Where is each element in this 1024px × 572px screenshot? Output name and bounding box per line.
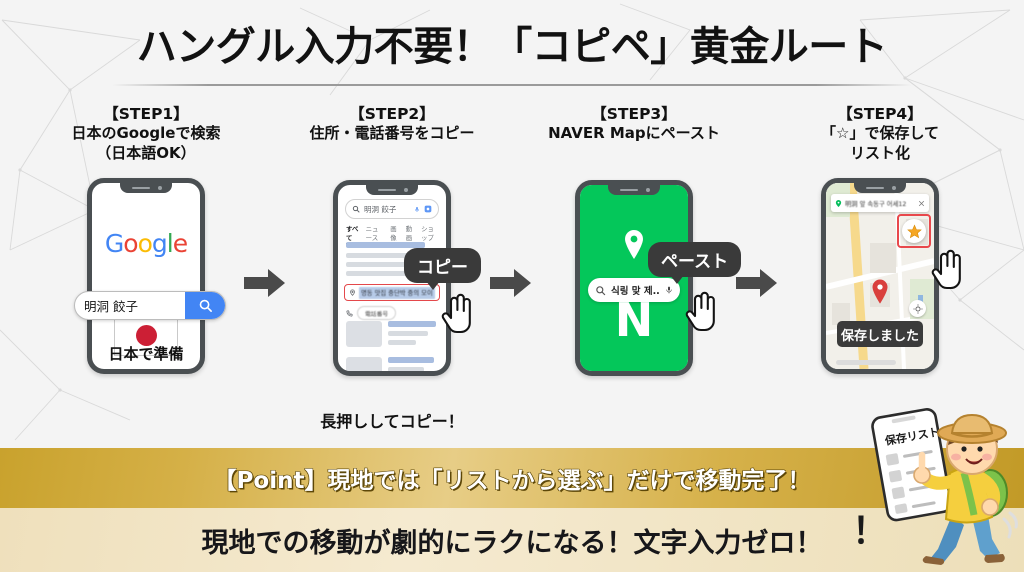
phone-1-screen: Google 日本で準備 [92, 183, 200, 369]
steps-row: 【STEP1】 日本のGoogleで検索 （日本語OK） Google 日本で準… [0, 104, 1024, 424]
mascot-illustration: 保存リスト [868, 407, 1018, 572]
phone-notch [608, 185, 660, 195]
step-3-tag: 【STEP3】 [516, 104, 752, 124]
compass-icon[interactable] [909, 300, 926, 317]
location-pin-icon [622, 230, 646, 265]
title-divider [112, 84, 912, 86]
result-card-2 [346, 357, 438, 371]
phone-mockup-1: Google 日本で準備 [87, 178, 205, 374]
step-card-4: 【STEP4】 「☆」で保存して リスト化 [762, 104, 998, 374]
phone-4-screen: 明洞 앞 속동구 어세12 [826, 183, 934, 369]
hand-pointer-icon-step3 [684, 290, 720, 337]
hand-pointer-icon-step2 [440, 292, 476, 339]
mic-icon[interactable] [665, 284, 673, 296]
step-4-heading: 【STEP4】 「☆」で保存して リスト化 [762, 104, 998, 164]
star-highlight-box [897, 214, 931, 248]
lens-icon[interactable] [424, 205, 432, 213]
map-address-bar[interactable]: 明洞 앞 속동구 어세12 [831, 194, 929, 212]
banner-summary-text: 現地での移動が劇的にラクになる！文字入力ゼロ！ [202, 521, 823, 560]
paste-callout-bubble: ペースト [648, 242, 741, 277]
step-card-1: 【STEP1】 日本のGoogleで検索 （日本語OK） Google 日本で準… [28, 104, 264, 374]
arrow-step3-to-step4 [736, 268, 778, 303]
step-3-line1: NAVER Mapにペースト [516, 124, 752, 144]
tab-news[interactable]: ニュース [366, 224, 385, 244]
step-1-heading: 【STEP1】 日本のGoogleで検索 （日本語OK） [28, 104, 264, 164]
step-1-line1: 日本のGoogleで検索 [28, 124, 264, 144]
search-icon[interactable] [185, 292, 225, 319]
step-3-heading: 【STEP3】 NAVER Mapにペースト [516, 104, 752, 144]
phone-mockup-4: 明洞 앞 속동구 어세12 [821, 178, 939, 374]
phone-result-row[interactable]: 電話番号 [346, 306, 396, 320]
tab-videos[interactable]: 動画 [406, 224, 415, 244]
step-1-tag: 【STEP1】 [28, 104, 264, 124]
phone-icon [346, 310, 353, 317]
infographic-root: ハングル入力不要！「コピペ」黄金ルート 【STEP1】 日本のGoogleで検索… [0, 0, 1024, 572]
results-search-input[interactable]: 明洞 餃子 [345, 199, 439, 219]
phone-notch [854, 183, 906, 193]
map-address-value: 明洞 앞 속동구 어세12 [845, 199, 915, 208]
results-tabs: すべて ニュース 画像 動画 ショップ [346, 224, 440, 244]
step-2-tag: 【STEP2】 [274, 104, 510, 124]
step-4-line1: 「☆」で保存して [762, 124, 998, 144]
search-icon [595, 285, 606, 296]
mic-icon[interactable] [414, 205, 420, 214]
map-pin-icon [349, 288, 356, 297]
hand-pointer-icon-step4 [930, 248, 966, 295]
step-2-heading: 【STEP2】 住所・電話番号をコピー [274, 104, 510, 144]
google-search-value: 明洞 餃子 [75, 296, 185, 315]
map-pin-icon [835, 199, 842, 208]
step-2-line1: 住所・電話番号をコピー [274, 124, 510, 144]
step-4-line2: リスト化 [762, 144, 998, 164]
title-block: ハングル入力不要！「コピペ」黄金ルート [0, 14, 1024, 86]
save-toast: 保存しました [837, 321, 923, 347]
tab-shopping[interactable]: ショップ [421, 224, 440, 244]
naver-logo: N [580, 297, 688, 343]
result-card-1 [346, 321, 438, 347]
phone-notch [120, 183, 172, 193]
google-logo: Google [92, 229, 200, 258]
tab-all[interactable]: すべて [346, 224, 360, 244]
step-1-line2: （日本語OK） [28, 144, 264, 164]
tel-value: 電話番号 [357, 306, 396, 320]
arrow-step2-to-step3 [490, 268, 532, 303]
copy-callout-bubble: コピー [404, 248, 481, 283]
phone-notch [366, 185, 418, 195]
map-marker-icon [870, 279, 890, 305]
page-title: ハングル入力不要！「コピペ」黄金ルート [0, 14, 1024, 72]
arrow-step1-to-step2 [244, 268, 286, 303]
close-icon[interactable] [918, 200, 925, 207]
tab-images[interactable]: 画像 [390, 224, 399, 244]
banner-point-text: 【Point】現地では「リストから選ぶ」だけで移動完了！ [214, 461, 811, 495]
phone-1-caption: 日本で準備 [92, 343, 200, 364]
google-search-input[interactable]: 明洞 餃子 [74, 291, 226, 320]
step2-caption: 長押ししてコピー！ [274, 408, 510, 432]
results-search-value: 明洞 餃子 [364, 204, 410, 215]
step-4-tag: 【STEP4】 [762, 104, 998, 124]
address-text: 명동 맛집 중단박 중의 모이 어제... [359, 287, 435, 299]
search-icon [352, 205, 360, 213]
